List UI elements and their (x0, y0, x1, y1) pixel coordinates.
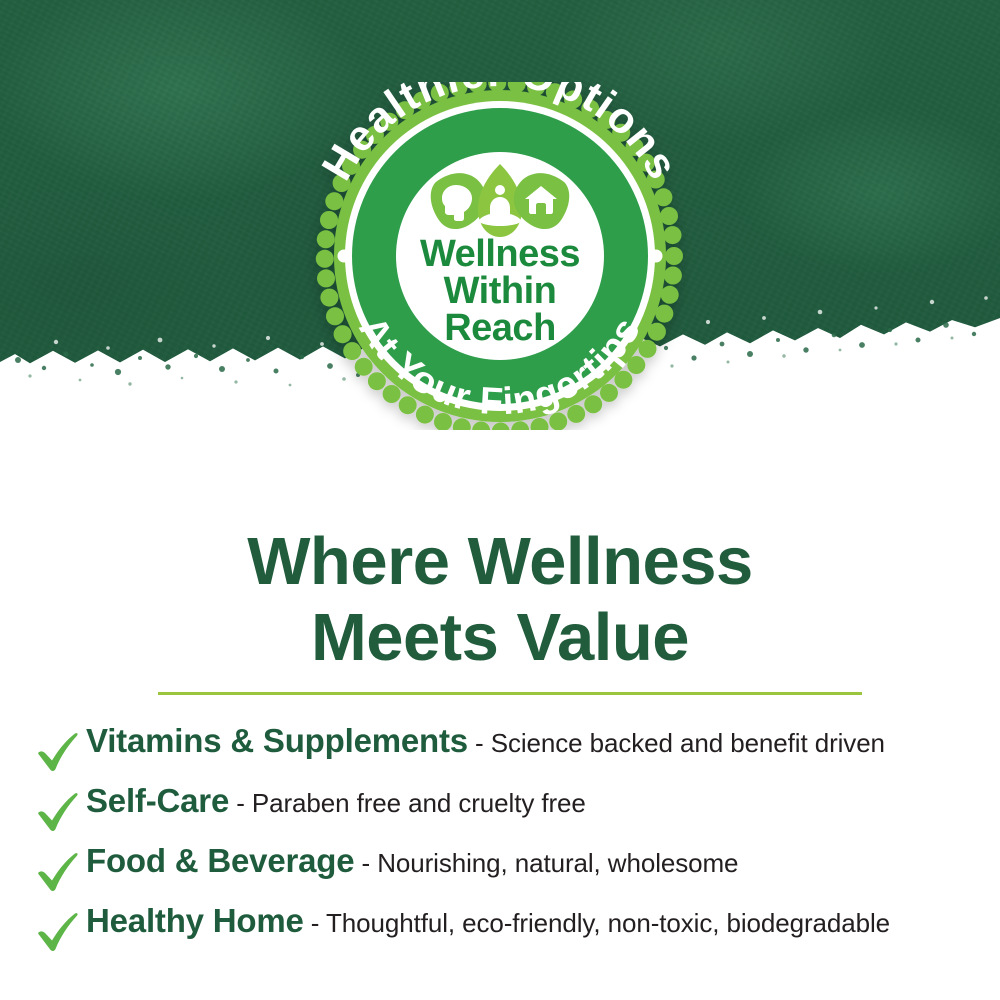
feature-text: Self-Care - Paraben free and cruelty fre… (86, 782, 586, 820)
feature-label: Healthy Home (86, 902, 304, 939)
list-item: Vitamins & Supplements - Science backed … (28, 722, 978, 782)
badge-inner-line-2: Within (444, 270, 557, 312)
feature-label: Vitamins & Supplements (86, 722, 468, 759)
check-icon (28, 852, 86, 892)
feature-list: Vitamins & Supplements - Science backed … (28, 722, 978, 962)
feature-description: - Science backed and benefit driven (468, 728, 885, 758)
list-item: Healthy Home - Thoughtful, eco-friendly,… (28, 902, 978, 962)
list-item: Self-Care - Paraben free and cruelty fre… (28, 782, 978, 842)
feature-description: - Nourishing, natural, wholesome (354, 848, 738, 878)
headline-divider (158, 692, 862, 695)
badge-inner-line-1: Wellness (420, 233, 580, 275)
headline-line-1: Where Wellness (0, 524, 1000, 600)
feature-text: Healthy Home - Thoughtful, eco-friendly,… (86, 902, 890, 940)
check-icon (28, 732, 86, 772)
check-icon (28, 912, 86, 952)
feature-label: Food & Beverage (86, 842, 354, 879)
feature-description: - Thoughtful, eco-friendly, non-toxic, b… (304, 908, 890, 938)
feature-description: - Paraben free and cruelty free (229, 788, 586, 818)
page-title: Where Wellness Meets Value (0, 524, 1000, 675)
feature-text: Vitamins & Supplements - Science backed … (86, 722, 885, 760)
wellness-badge: Healthier Options At Your Fingertips (296, 82, 704, 430)
badge-inner-line-3: Reach (444, 307, 556, 349)
headline-line-2: Meets Value (0, 600, 1000, 676)
badge-body: Healthier Options At Your Fingertips (313, 82, 687, 430)
feature-text: Food & Beverage - Nourishing, natural, w… (86, 842, 738, 880)
promo-poster: Healthier Options At Your Fingertips (0, 0, 1000, 1000)
badge-seal-graphic: Healthier Options At Your Fingertips (296, 82, 704, 430)
check-icon (28, 792, 86, 832)
feature-label: Self-Care (86, 782, 229, 819)
list-item: Food & Beverage - Nourishing, natural, w… (28, 842, 978, 902)
